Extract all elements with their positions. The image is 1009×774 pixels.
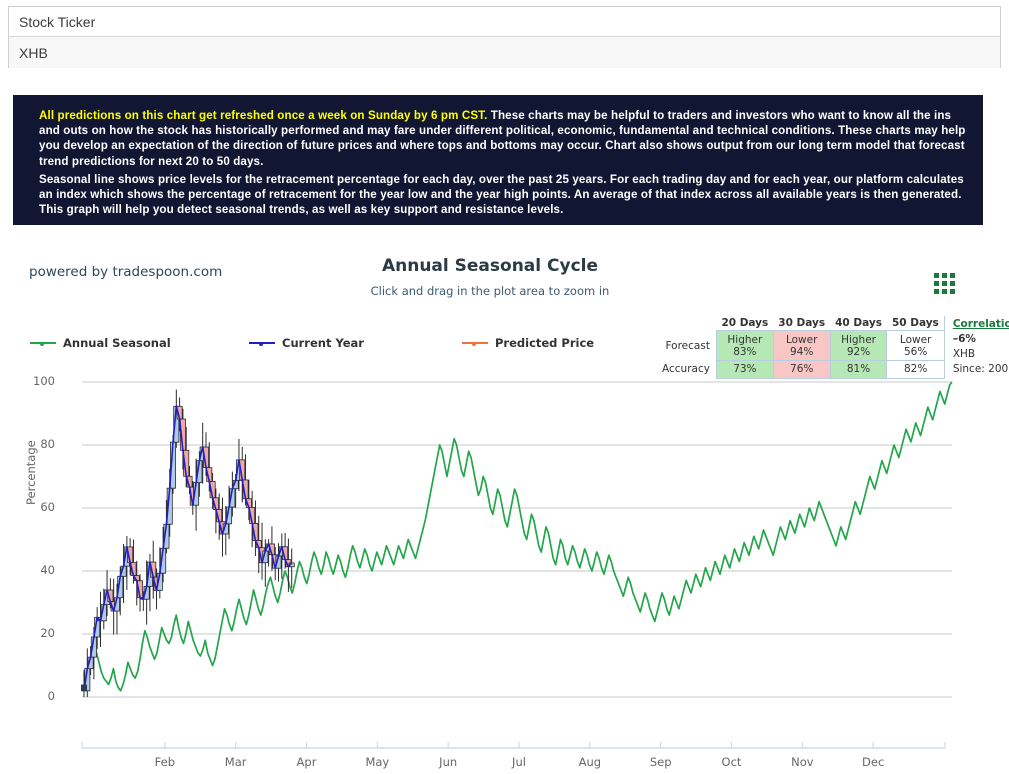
y-axis-tick: 100 [15,374,55,388]
x-axis-tick: Feb [155,755,175,769]
x-axis-tick: Apr [297,755,317,769]
x-axis-tick: Oct [722,755,742,769]
gridlines [82,382,952,697]
y-axis-tick: 40 [15,563,55,577]
y-axis-tick: 80 [15,437,55,451]
seasonal-cycle-page: Stock Ticker XHB All predictions on this… [0,0,1009,774]
x-axis-tick: Jun [439,755,457,769]
x-axis-tick-marks [82,742,945,748]
plot-svg[interactable] [0,0,1009,774]
plot-area[interactable]: Percentage 020406080100 FebMarAprMayJunJ… [0,0,1009,534]
x-axis-tick: Jul [512,755,526,769]
series-start-marker [81,685,87,691]
current-year-candlesticks [81,390,294,697]
x-axis-tick: Aug [579,755,601,769]
x-axis-tick: May [365,755,389,769]
y-axis-tick: 20 [15,626,55,640]
annual-seasonal-path [82,382,952,691]
x-axis-tick: Mar [225,755,247,769]
y-axis-tick: 0 [15,689,55,703]
x-axis-tick: Nov [791,755,813,769]
x-axis-tick: Dec [862,755,884,769]
x-axis-tick: Sep [650,755,672,769]
annual-seasonal-line [82,382,952,691]
y-axis-tick: 60 [15,500,55,514]
